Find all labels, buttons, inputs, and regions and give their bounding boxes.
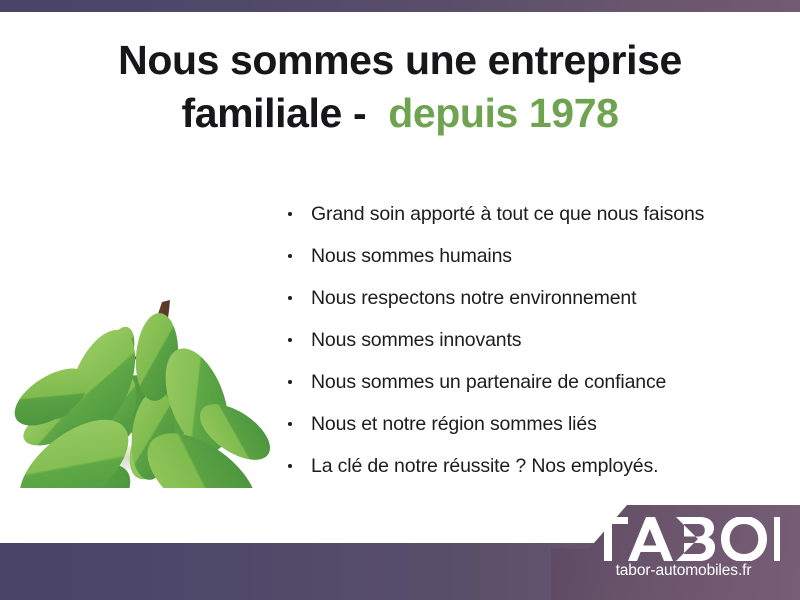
list-item: Nous sommes innovants bbox=[283, 319, 783, 361]
title-line-2: familiale - depuis 1978 bbox=[0, 87, 800, 140]
list-item-label: Nous sommes innovants bbox=[311, 329, 521, 351]
list-item-label: Nous sommes humains bbox=[311, 245, 512, 267]
logo-url: tabor-automobiles.fr bbox=[581, 561, 786, 581]
page-title: Nous sommes une entreprise familiale - d… bbox=[0, 34, 800, 141]
value-bullet-list: Grand soin apporté à tout ce que nous fa… bbox=[283, 193, 783, 487]
brand-logo: tabor-automobiles.fr bbox=[551, 505, 800, 600]
tree-illustration bbox=[12, 182, 278, 488]
list-item: Nous respectons notre environnement bbox=[283, 277, 783, 319]
list-item: Nous sommes un partenaire de confiance bbox=[283, 361, 783, 403]
list-item-label: Grand soin apporté à tout ce que nous fa… bbox=[311, 203, 704, 225]
bullet-dot-icon bbox=[288, 254, 292, 258]
list-item: Nous et notre région sommes liés bbox=[283, 403, 783, 445]
list-item: Nous sommes humains bbox=[283, 235, 783, 277]
slide-canvas: Nous sommes une entreprise familiale - d… bbox=[0, 0, 800, 600]
bullet-dot-icon bbox=[288, 338, 292, 342]
title-line-2-accent: depuis 1978 bbox=[388, 90, 618, 136]
list-item-label: La clé de notre réussite ? Nos employés. bbox=[311, 455, 658, 477]
title-line-1: Nous sommes une entreprise bbox=[0, 34, 800, 87]
bullet-dot-icon bbox=[288, 422, 292, 426]
logo-wordmark bbox=[581, 517, 786, 561]
list-item-label: Nous sommes un partenaire de confiance bbox=[311, 371, 666, 393]
list-item-label: Nous respectons notre environnement bbox=[311, 287, 636, 309]
bullet-dot-icon bbox=[288, 464, 292, 468]
bullet-dot-icon bbox=[288, 212, 292, 216]
bullet-dot-icon bbox=[288, 380, 292, 384]
bullet-dot-icon bbox=[288, 296, 292, 300]
top-accent-band bbox=[0, 0, 800, 12]
list-item: Grand soin apporté à tout ce que nous fa… bbox=[283, 193, 783, 235]
logo-text-group: tabor-automobiles.fr bbox=[581, 517, 786, 581]
title-line-2-main: familiale - bbox=[181, 90, 366, 136]
list-item-label: Nous et notre région sommes liés bbox=[311, 413, 597, 435]
tree-leaves bbox=[12, 312, 278, 488]
list-item: La clé de notre réussite ? Nos employés. bbox=[283, 445, 783, 487]
